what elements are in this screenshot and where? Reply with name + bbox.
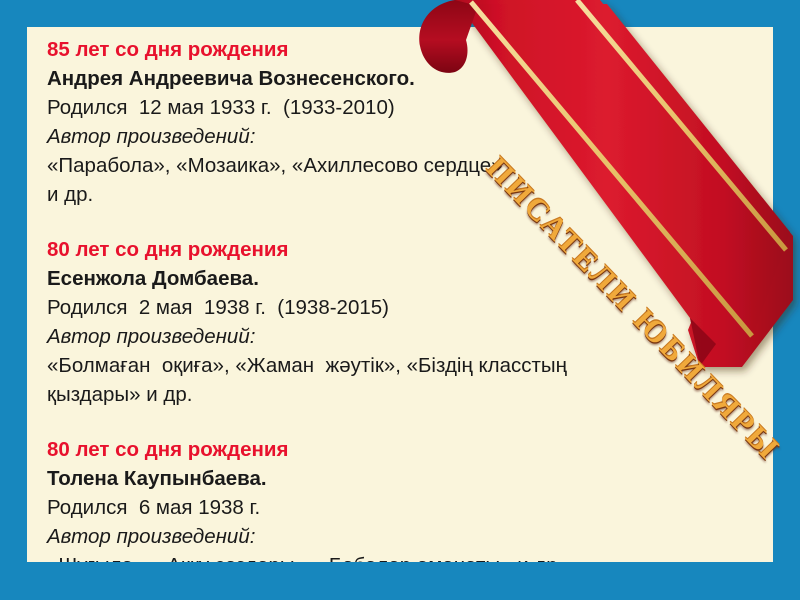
entries-list: 85 лет со дня рождения Андрея Андреевича… (47, 35, 753, 562)
slide-paper-area: 85 лет со дня рождения Андрея Андреевича… (27, 27, 773, 562)
entry-works-line: «Шұғыла», «Аққу саздары», «Бабалар амана… (47, 551, 753, 562)
entry-writer-name: Андрея Андреевича Вознесенского. (47, 64, 753, 93)
entry-works-line: «Парабола», «Мозаика», «Ахиллесово сердц… (47, 151, 753, 180)
entry-heading: 80 лет со дня рождения (47, 235, 753, 264)
entry-author-label: Автор произведений: (47, 122, 753, 151)
entry-writer-name: Толена Каупынбаева. (47, 464, 753, 493)
entry-author-label: Автор произведений: (47, 522, 753, 551)
presentation-slide: 85 лет со дня рождения Андрея Андреевича… (0, 0, 800, 600)
entry-works-line: қыздары» и др. (47, 380, 753, 409)
writer-entry: 80 лет со дня рождения Толена Каупынбаев… (47, 435, 753, 562)
entry-birth-info: Родился 12 мая 1933 г. (1933-2010) (47, 93, 753, 122)
writer-entry: 85 лет со дня рождения Андрея Андреевича… (47, 35, 753, 209)
entry-birth-info: Родился 6 мая 1938 г. (47, 493, 753, 522)
entry-writer-name: Есенжола Домбаева. (47, 264, 753, 293)
entry-works-line: «Болмаған оқиға», «Жаман жәутік», «Бізді… (47, 351, 753, 380)
entry-heading: 80 лет со дня рождения (47, 435, 753, 464)
entry-birth-info: Родился 2 мая 1938 г. (1938-2015) (47, 293, 753, 322)
entry-author-label: Автор произведений: (47, 322, 753, 351)
entry-heading: 85 лет со дня рождения (47, 35, 753, 64)
entry-works-line: и др. (47, 180, 753, 209)
writer-entry: 80 лет со дня рождения Есенжола Домбаева… (47, 235, 753, 409)
